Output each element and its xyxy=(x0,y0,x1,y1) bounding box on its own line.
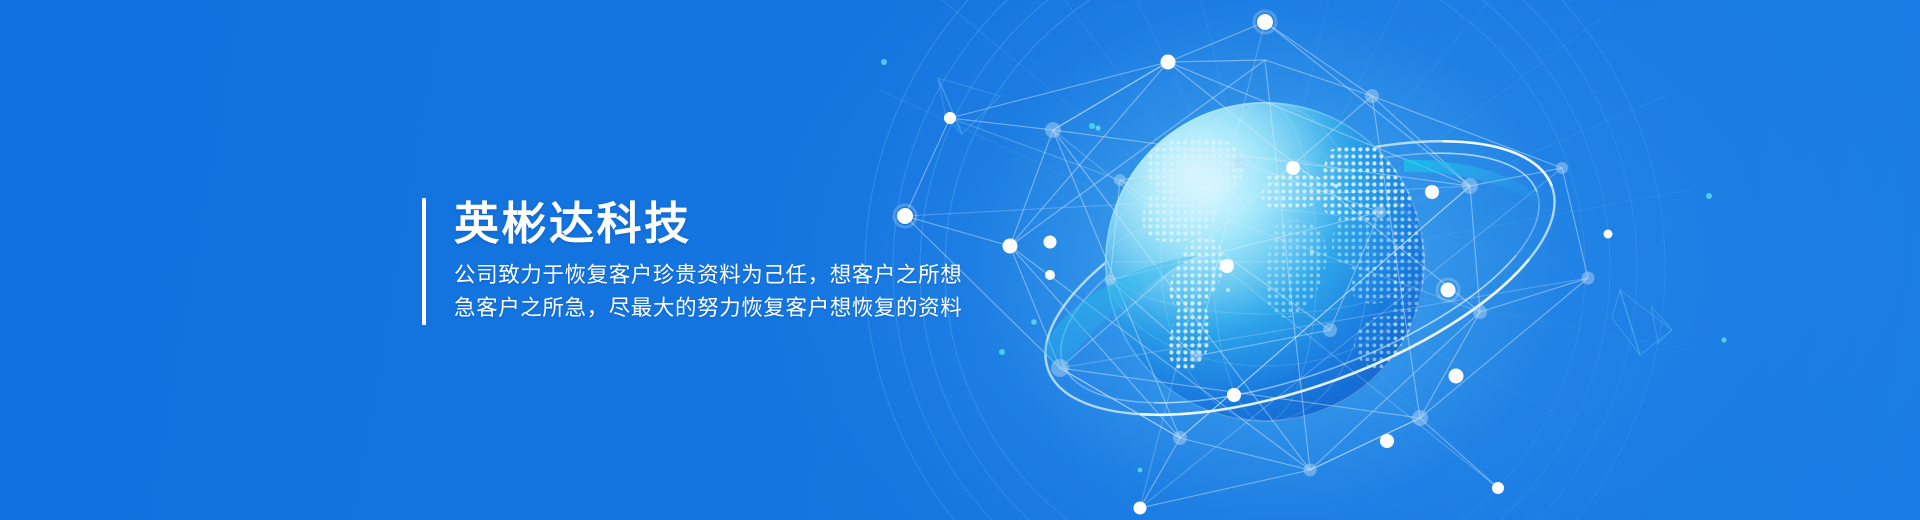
company-slogan-line-1: 公司致力于恢复客户珍贵资料为己任，想客户之所想 xyxy=(454,259,962,292)
hero-banner: 英彬达科技 公司致力于恢复客户珍贵资料为己任，想客户之所想 急客户之所急，尽最大… xyxy=(0,0,1920,520)
hero-text-block: 英彬达科技 公司致力于恢复客户珍贵资料为己任，想客户之所想 急客户之所急，尽最大… xyxy=(422,198,962,325)
company-slogan-line-2: 急客户之所急，尽最大的努力恢复客户想恢复的资料 xyxy=(454,292,962,325)
hero-text-column: 英彬达科技 公司致力于恢复客户珍贵资料为己任，想客户之所想 急客户之所急，尽最大… xyxy=(426,198,962,325)
company-title: 英彬达科技 xyxy=(454,198,962,250)
